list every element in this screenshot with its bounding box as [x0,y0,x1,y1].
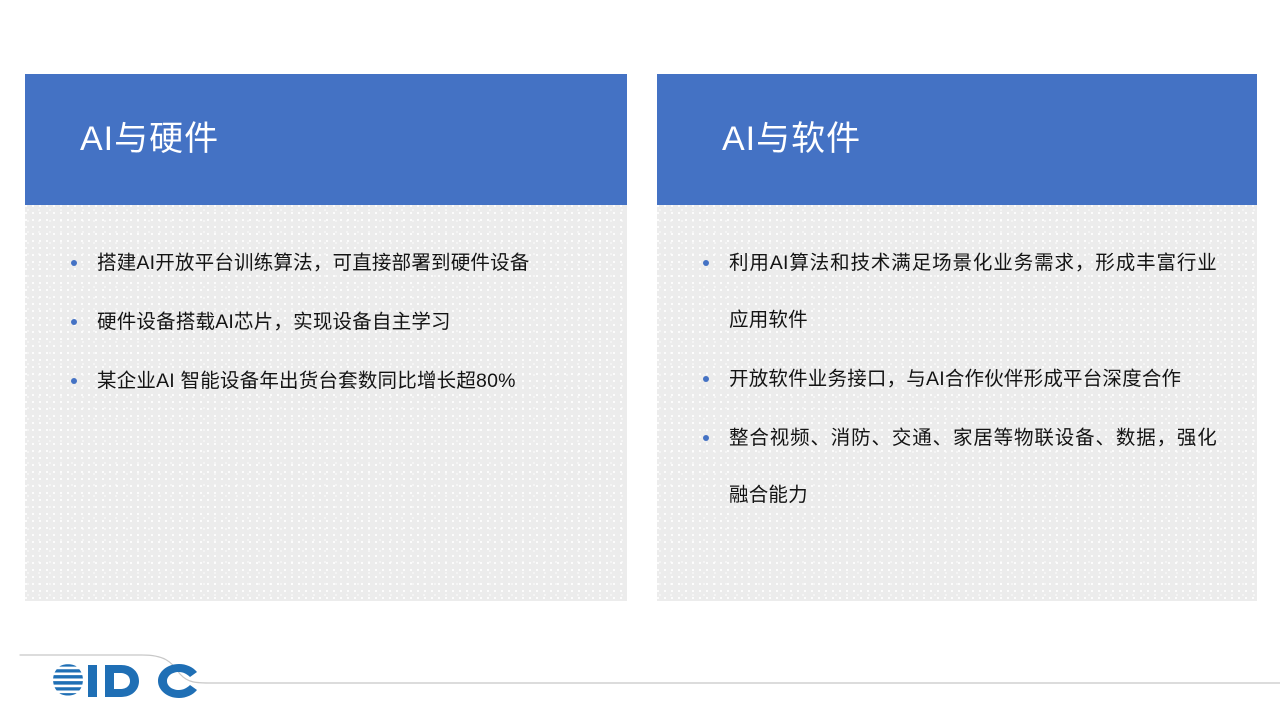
list-item: 搭建AI开放平台训练算法，可直接部署到硬件设备 [71,235,587,292]
list-item: 某企业AI 智能设备年出货台套数同比增长超80% [71,353,587,410]
panel-header-ai-software: AI与软件 [657,74,1257,205]
slide-canvas: AI与硬件 搭建AI开放平台训练算法，可直接部署到硬件设备 硬件设备搭载AI芯片… [0,0,1280,720]
list-item: 硬件设备搭载AI芯片，实现设备自主学习 [71,294,587,351]
bullet-list-ai-software: 利用AI算法和技术满足场景化业务需求，形成丰富行业应用软件 开放软件业务接口，与… [703,235,1217,524]
panel-title-ai-software: AI与软件 [722,121,861,158]
panel-header-ai-hardware: AI与硬件 [25,74,627,205]
panel-body-ai-software: 利用AI算法和技术满足场景化业务需求，形成丰富行业应用软件 开放软件业务接口，与… [657,205,1257,601]
bullet-list-ai-hardware: 搭建AI开放平台训练算法，可直接部署到硬件设备 硬件设备搭载AI芯片，实现设备自… [71,235,587,410]
slide-footer [0,630,1280,720]
list-item: 利用AI算法和技术满足场景化业务需求，形成丰富行业应用软件 [703,235,1217,349]
list-item: 开放软件业务接口，与AI合作伙伴形成平台深度合作 [703,351,1217,408]
panel-ai-hardware: AI与硬件 搭建AI开放平台训练算法，可直接部署到硬件设备 硬件设备搭载AI芯片… [25,74,627,601]
idc-globe-icon [52,663,86,699]
idc-logo [52,658,199,704]
panel-ai-software: AI与软件 利用AI算法和技术满足场景化业务需求，形成丰富行业应用软件 开放软件… [657,74,1257,601]
list-item: 整合视频、消防、交通、家居等物联设备、数据，强化融合能力 [703,410,1217,524]
idc-wordmark [87,662,199,700]
panel-title-ai-hardware: AI与硬件 [80,121,219,158]
panel-body-ai-hardware: 搭建AI开放平台训练算法，可直接部署到硬件设备 硬件设备搭载AI芯片，实现设备自… [25,205,627,601]
